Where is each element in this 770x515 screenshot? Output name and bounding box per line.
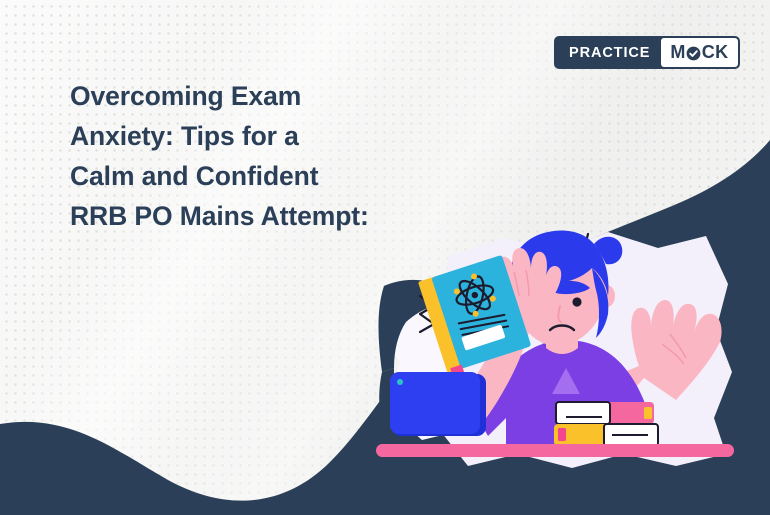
laptop-camera-dot (397, 379, 403, 385)
headline-line-2: Anxiety: Tips for a (70, 116, 490, 156)
headline-line-3: Calm and Confident (70, 156, 490, 196)
page-title: Overcoming Exam Anxiety: Tips for a Calm… (70, 76, 490, 236)
logo-word-practice: PRACTICE (556, 38, 661, 67)
stressed-student-illustration (376, 222, 770, 515)
blog-banner: PRACTICE M CK Overcoming Exam Anxiety: T… (0, 0, 770, 515)
eye-right (572, 297, 581, 306)
laptop-screen (390, 372, 480, 434)
book-stack-bottom (554, 424, 658, 446)
headline-line-1: Overcoming Exam (70, 76, 490, 116)
laptop (390, 372, 486, 436)
desk-surface (376, 444, 734, 457)
logo-mock-suffix: CK (702, 42, 729, 63)
logo-mock-text: M CK (670, 42, 728, 63)
logo-mock-prefix: M (670, 42, 685, 63)
book-stack (554, 402, 658, 446)
book-stack-top (556, 402, 654, 424)
check-circle-icon (686, 46, 701, 61)
practicemock-logo[interactable]: PRACTICE M CK (554, 36, 740, 69)
logo-badge-mock: M CK (661, 38, 737, 67)
